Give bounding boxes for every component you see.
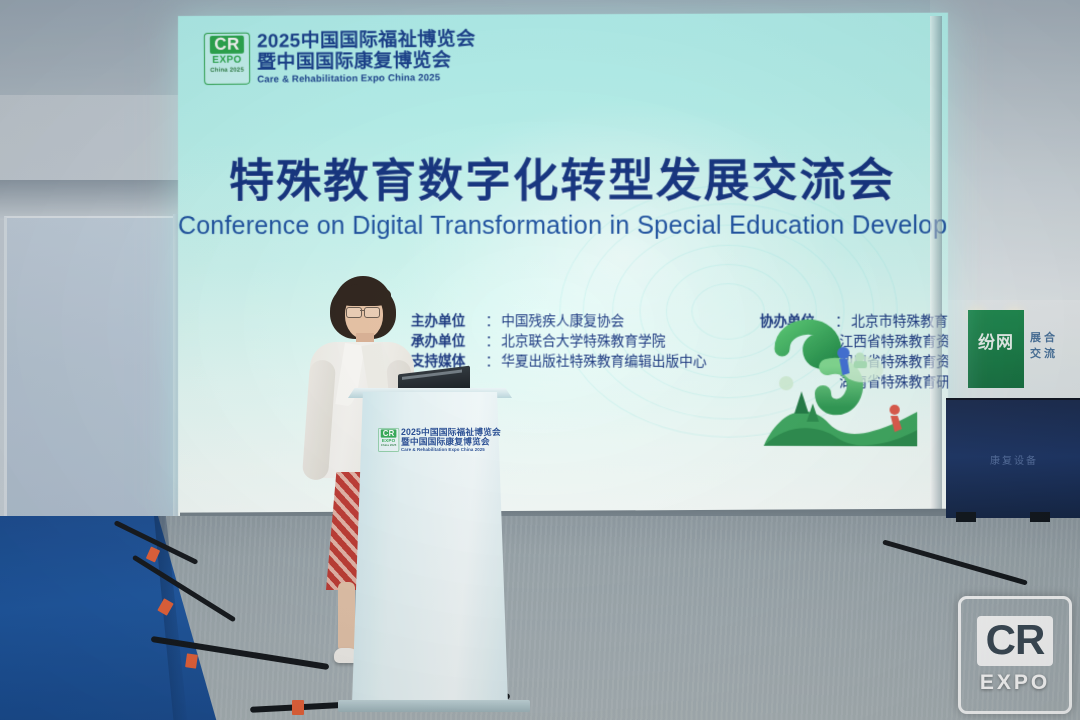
booth-signage-line2: 交 流 — [1030, 346, 1055, 362]
podium-base — [338, 700, 530, 712]
watermark-cr-text: CR — [977, 616, 1054, 666]
left-wall-panel — [4, 216, 173, 548]
speaker-glasses-left — [346, 307, 362, 318]
podium-brand-line-1: 2025中国国际福祉博览会 — [401, 428, 501, 437]
conference-title-english: Conference on Digital Transformation in … — [178, 209, 948, 242]
screen-brand-logo: CR EXPO China 2025 2025中国国际福祉博览会 暨中国国际康复… — [204, 30, 476, 87]
booth-signage-text: 展 合 交 流 — [1030, 330, 1055, 362]
credit-value: 华夏出版社特殊教育编辑出版中心 — [501, 351, 706, 371]
podium-badge-year-text: China 2025 — [381, 444, 396, 448]
watermark-expo-text: EXPO — [980, 671, 1050, 695]
badge-expo-text: EXPO — [212, 54, 242, 65]
speaker-glasses-bridge — [360, 310, 365, 311]
podium-brand-logo: CR EXPO China 2025 2025中国国际福祉博览会 暨中国国际康复… — [378, 428, 501, 453]
speaker-fringe — [336, 284, 391, 306]
cable-tape-4 — [292, 700, 304, 715]
cr-expo-watermark: CR EXPO — [958, 596, 1072, 714]
podium-brand-line-3: Care & Rehabilitation Expo China 2025 — [401, 447, 501, 453]
credit-row: 承办单位： 北京联合大学特殊教育学院 — [411, 331, 707, 352]
conference-title-block: 特殊教育数字化转型发展交流会 Conference on Digital Tra… — [178, 155, 948, 242]
cable-tape-3 — [185, 653, 198, 668]
led-case-leg-1 — [956, 512, 976, 522]
hall-right-wall — [930, 0, 1080, 300]
brand-line-3: Care & Rehabilitation Expo China 2025 — [257, 72, 476, 86]
wall-shadow — [0, 180, 180, 220]
booth-signage-line1: 展 合 — [1030, 330, 1055, 346]
brand-line-2: 暨中国国际康复博览会 — [257, 50, 476, 73]
green-ribbon-illustration — [764, 304, 917, 446]
podium-cr-expo-badge-icon: CR EXPO China 2025 — [378, 428, 399, 452]
led-case-leg-2 — [1030, 512, 1050, 522]
podium-brand-line-2: 暨中国国际康复博览会 — [401, 437, 501, 447]
stage-led-screen: CR EXPO China 2025 2025中国国际福祉博览会 暨中国国际康复… — [178, 13, 948, 520]
booth-green-label: 纷网 — [968, 328, 1024, 353]
podium-badge-cr-text: CR — [381, 429, 396, 437]
speaker-leg-left — [338, 582, 355, 652]
brand-line-1: 2025中国国际福祉博览会 — [257, 30, 476, 52]
credit-value: 北京联合大学特殊教育学院 — [501, 331, 665, 351]
badge-year-text: China 2025 — [210, 66, 244, 74]
conference-title-chinese: 特殊教育数字化转型发展交流会 — [178, 155, 948, 208]
credit-row: 主办单位： 中国残疾人康复协会 — [411, 311, 707, 331]
credit-value: 中国残疾人康复协会 — [501, 311, 624, 331]
badge-cr-text: CR — [210, 35, 244, 53]
credit-label: 主办单位 — [411, 311, 488, 331]
cr-expo-badge-icon: CR EXPO China 2025 — [204, 32, 250, 85]
screen-right-edge — [930, 16, 942, 521]
led-case-label: 康复设备 — [990, 452, 1038, 467]
speaker-glasses-right — [364, 307, 380, 318]
conference-stage-photo: F1 纷网 展 合 交 流 CR — [0, 0, 1080, 720]
podium-badge-expo-text: EXPO — [382, 438, 396, 443]
credit-label: 承办单位 — [411, 331, 488, 351]
